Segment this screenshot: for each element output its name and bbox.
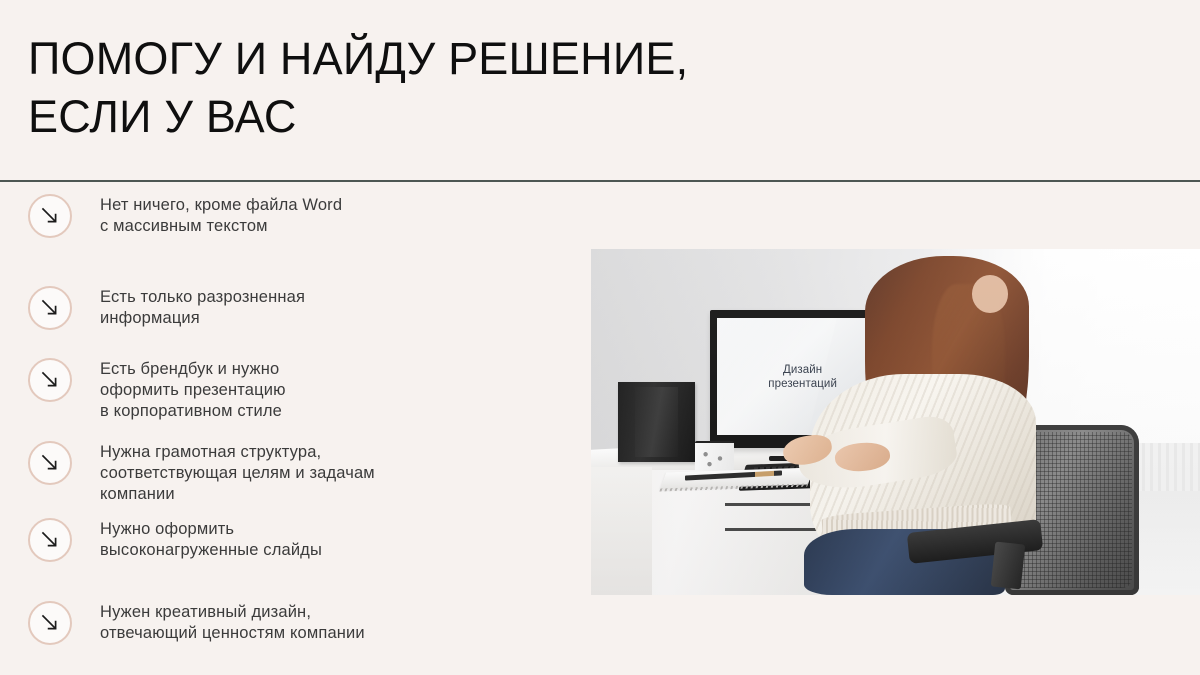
slide: ПОМОГУ И НАЙДУ РЕШЕНИЕ, ЕСЛИ У ВАС Нет н… <box>0 0 1200 675</box>
list-item-label: Есть брендбук и нужно оформить презентац… <box>100 358 286 422</box>
list-item[interactable]: Нет ничего, кроме файла Word с массивным… <box>28 194 342 238</box>
chair-armrest-post <box>991 542 1026 590</box>
list-item[interactable]: Нужна грамотная структура, соответствующ… <box>28 441 375 505</box>
header-divider <box>0 180 1200 182</box>
arrow-down-right-icon <box>28 601 72 645</box>
list-item-label: Нет ничего, кроме файла Word с массивным… <box>100 194 342 237</box>
monitor-screen-text: Дизайн презентаций <box>768 363 837 391</box>
woman-face <box>972 275 1009 313</box>
list-item-label: Нужна грамотная структура, соответствующ… <box>100 441 375 505</box>
workspace-photo: Дизайн презентаций <box>591 249 1200 595</box>
arrow-down-right-icon <box>28 194 72 238</box>
arrow-down-right-icon <box>28 286 72 330</box>
photo-scene: Дизайн презентаций <box>591 249 1200 595</box>
list-item[interactable]: Нужен креативный дизайн, отвечающий ценн… <box>28 601 365 645</box>
arrow-down-right-icon <box>28 441 72 485</box>
list-item-label: Нужно оформить высоконагруженные слайды <box>100 518 322 561</box>
speaker-left <box>618 382 694 462</box>
title-line-2: ЕСЛИ У ВАС <box>28 88 868 146</box>
arrow-down-right-icon <box>28 518 72 562</box>
list-item[interactable]: Есть только разрозненная информация <box>28 286 305 330</box>
list-item[interactable]: Есть брендбук и нужно оформить презентац… <box>28 358 286 422</box>
title-line-1: ПОМОГУ И НАЙДУ РЕШЕНИЕ, <box>28 30 868 88</box>
arrow-down-right-icon <box>28 358 72 402</box>
desk-side-panel <box>591 467 652 595</box>
list-item-label: Нужен креативный дизайн, отвечающий ценн… <box>100 601 365 644</box>
page-title: ПОМОГУ И НАЙДУ РЕШЕНИЕ, ЕСЛИ У ВАС <box>28 30 868 146</box>
list-item[interactable]: Нужно оформить высоконагруженные слайды <box>28 518 322 562</box>
list-item-label: Есть только разрозненная информация <box>100 286 305 329</box>
notebook <box>660 468 814 490</box>
